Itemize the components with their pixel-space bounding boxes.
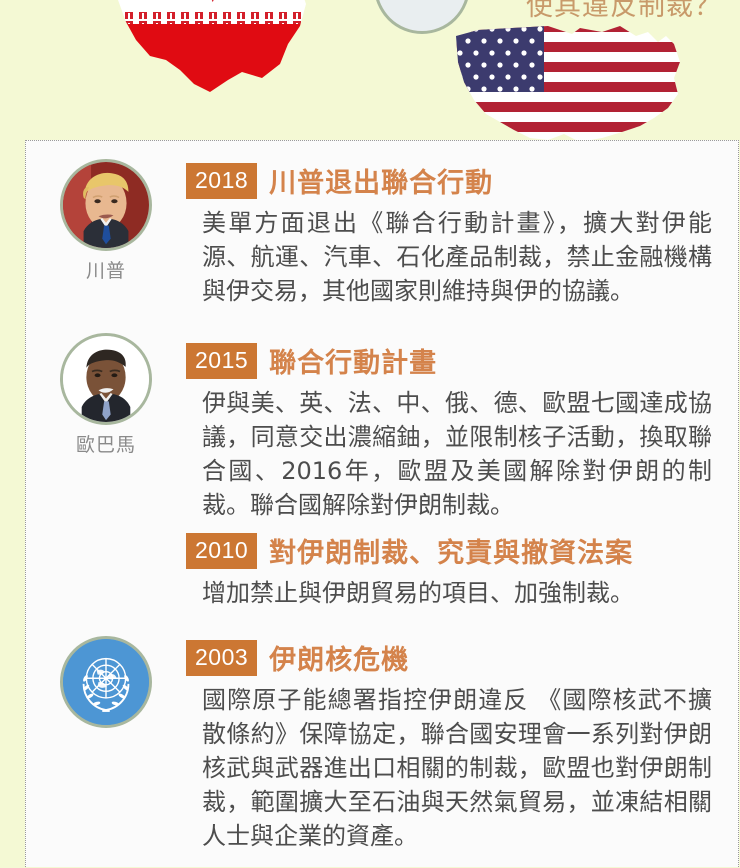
- avatar: [60, 333, 152, 425]
- portrait-trump-icon: [63, 162, 149, 248]
- year-badge: 2015: [186, 343, 257, 379]
- banner-headline-text: 使其違反制裁？: [526, 0, 722, 23]
- portrait-obama-icon: [63, 336, 149, 422]
- entry-body: 2010 對伊朗制裁、究責與撤資法案 增加禁止與伊朗貿易的項目、加強制裁。: [186, 517, 738, 610]
- usa-flag-map: [452, 22, 684, 140]
- timeline-card: 川普 2018 川普退出聯合行動 美單方面退出《聯合行動計畫》，擴大對伊能源、航…: [25, 140, 739, 867]
- entry-title: 伊朗核危機: [269, 638, 409, 677]
- entry-heading: 2015 聯合行動計畫: [186, 341, 718, 380]
- iran-flag-map: [110, 0, 315, 110]
- avatar-label: 川普: [86, 256, 126, 283]
- entry-title: 對伊朗制裁、究責與撤資法案: [269, 531, 633, 570]
- entry-body: 2015 聯合行動計畫 伊與美、英、法、中、俄、德、歐盟七國達成協議，同意交出濃…: [186, 321, 738, 522]
- entry-heading: 2003 伊朗核危機: [186, 638, 718, 677]
- timeline-entry: 2010 對伊朗制裁、究責與撤資法案 增加禁止與伊朗貿易的項目、加強制裁。: [26, 517, 738, 624]
- entry-body: 2018 川普退出聯合行動 美單方面退出《聯合行動計畫》，擴大對伊能源、航運、汽…: [186, 141, 738, 308]
- entry-heading: 2018 川普退出聯合行動: [186, 161, 718, 200]
- timeline-entry: 2003 伊朗核危機 國際原子能總署指控伊朗違反 《國際核武不擴散條約》保障協定…: [26, 624, 738, 868]
- timeline-entry: 川普 2018 川普退出聯合行動 美單方面退出《聯合行動計畫》，擴大對伊能源、航…: [26, 141, 738, 321]
- entry-title: 川普退出聯合行動: [269, 161, 493, 200]
- top-banner: 使其違反制裁？: [0, 0, 740, 140]
- entry-body: 2003 伊朗核危機 國際原子能總署指控伊朗違反 《國際核武不擴散條約》保障協定…: [186, 624, 738, 853]
- entry-title: 聯合行動計畫: [269, 341, 437, 380]
- entry-description: 伊與美、英、法、中、俄、德、歐盟七國達成協議，同意交出濃縮鈾，並限制核子活動，換…: [186, 386, 718, 522]
- year-badge: 2003: [186, 640, 257, 676]
- un-emblem-icon: [60, 636, 152, 728]
- avatar: [60, 159, 152, 251]
- entry-avatar-column: 歐巴馬: [26, 321, 186, 457]
- entry-description: 美單方面退出《聯合行動計畫》，擴大對伊能源、航運、汽車、石化產品制裁，禁止金融機…: [186, 206, 718, 308]
- entry-avatar-column: 川普: [26, 141, 186, 283]
- entry-description: 國際原子能總署指控伊朗違反 《國際核武不擴散條約》保障協定，聯合國安理會一系列對…: [186, 683, 718, 853]
- year-badge: 2018: [186, 163, 257, 199]
- avatar-label: 歐巴馬: [76, 430, 136, 457]
- entry-description: 增加禁止與伊朗貿易的項目、加強制裁。: [186, 576, 718, 610]
- entry-heading: 2010 對伊朗制裁、究責與撤資法案: [186, 531, 718, 570]
- timeline-entry: 歐巴馬 2015 聯合行動計畫 伊與美、英、法、中、俄、德、歐盟七國達成協議，同…: [26, 321, 738, 517]
- entry-avatar-column: [26, 624, 186, 733]
- year-badge: 2010: [186, 533, 257, 569]
